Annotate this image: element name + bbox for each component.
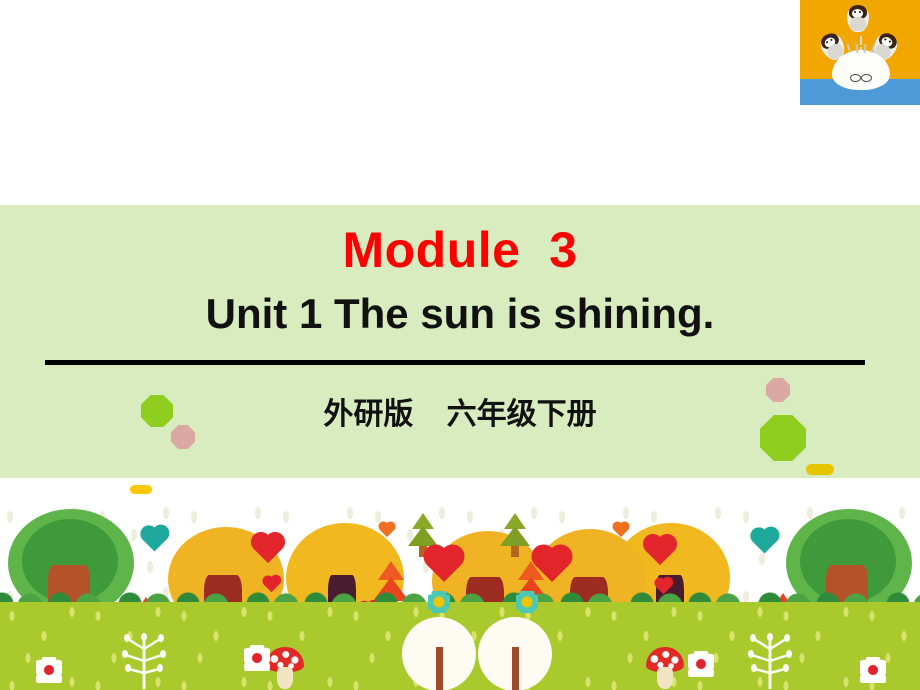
module-title: Module 3 <box>0 225 920 275</box>
sparkle-line-1 <box>860 36 862 45</box>
decor-octagon-green-right <box>760 415 806 461</box>
decor-pill-yellow-right <box>806 464 834 475</box>
flower-white-1 <box>36 657 62 683</box>
flower-white-4 <box>860 657 886 683</box>
pine-tier <box>408 526 438 546</box>
white-sprig-left <box>118 631 170 689</box>
penguin-body <box>850 17 866 31</box>
tree-trunk <box>512 647 519 690</box>
cover-image-thumbnail <box>800 0 920 105</box>
flower-white-3 <box>688 651 714 677</box>
sprig-icon <box>744 631 796 689</box>
olive-pine-right <box>496 513 534 559</box>
mushroom-stem <box>277 667 293 689</box>
decor-octagon-pink-left <box>171 425 195 449</box>
slide-root: Module 3 Unit 1 The sun is shining. 外研版 … <box>0 0 920 690</box>
mushroom-stem <box>657 667 673 689</box>
pine-tier <box>500 526 530 546</box>
flower-teal-right <box>516 591 538 613</box>
flower-teal-left <box>428 591 450 613</box>
tree-trunk <box>436 647 443 690</box>
flower-white-2 <box>244 645 270 671</box>
penguin-top-icon <box>847 6 869 32</box>
decor-pill-yellow-left <box>130 485 152 494</box>
forest-illustration <box>0 505 920 690</box>
white-sprig-right <box>744 631 796 689</box>
unit-title: Unit 1 The sun is shining. <box>0 293 920 335</box>
pine-trunk <box>511 546 519 557</box>
sprig-icon <box>118 631 170 689</box>
title-divider <box>45 360 865 365</box>
